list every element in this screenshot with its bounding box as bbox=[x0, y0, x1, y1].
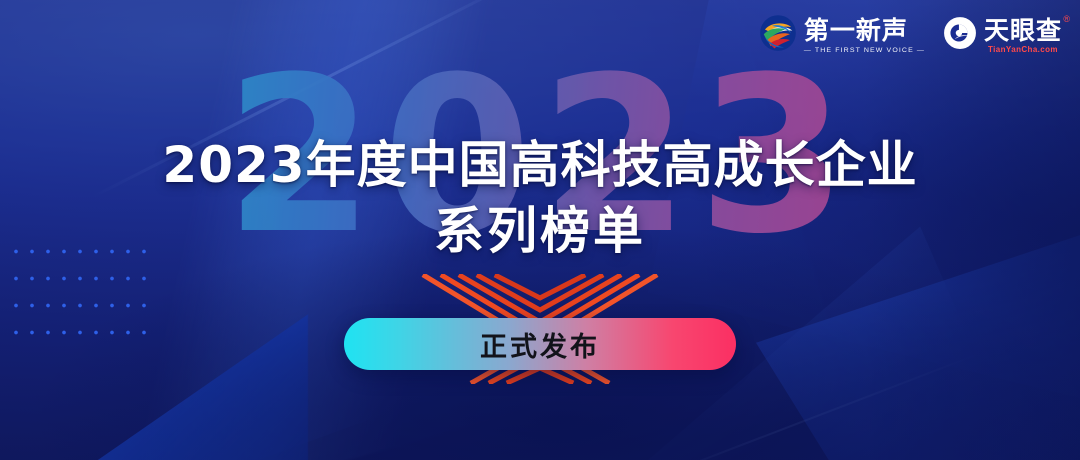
release-status-label: 正式发布 bbox=[480, 325, 600, 364]
logo-diyixinsheng[interactable]: 第一新声 — THE FIRST NEW VOICE — bbox=[759, 14, 925, 57]
registered-trademark-icon: ® bbox=[1063, 15, 1070, 24]
logo-tianyancha-name: 天眼查 bbox=[984, 16, 1062, 45]
logo-diyixinsheng-text: 第一新声 — THE FIRST NEW VOICE — bbox=[804, 18, 925, 54]
logo-tianyancha-tagline: TianYanCha.com bbox=[984, 46, 1062, 54]
logo-tianyancha[interactable]: 天眼查 ® TianYanCha.com bbox=[943, 16, 1062, 55]
logo-diyixinsheng-name: 第一新声 bbox=[804, 18, 925, 43]
release-status-badge[interactable]: 正式发布 bbox=[344, 318, 736, 370]
title-line-1: 2023年度中国高科技高成长企业 bbox=[0, 132, 1080, 198]
page-title: 2023年度中国高科技高成长企业 系列榜单 bbox=[0, 132, 1080, 264]
logo-bar: 第一新声 — THE FIRST NEW VOICE — bbox=[759, 14, 1062, 57]
swirl-logo-icon bbox=[759, 14, 797, 57]
logo-diyixinsheng-tagline: — THE FIRST NEW VOICE — bbox=[804, 47, 925, 53]
title-line-2: 系列榜单 bbox=[0, 198, 1080, 264]
poster-canvas: 2023 2023年度中国高科技高成长企业 系列榜单 正式发布 bbox=[0, 0, 1080, 460]
logo-tianyancha-text: 天眼查 ® TianYanCha.com bbox=[984, 18, 1062, 54]
eye-lens-logo-icon bbox=[943, 16, 977, 55]
